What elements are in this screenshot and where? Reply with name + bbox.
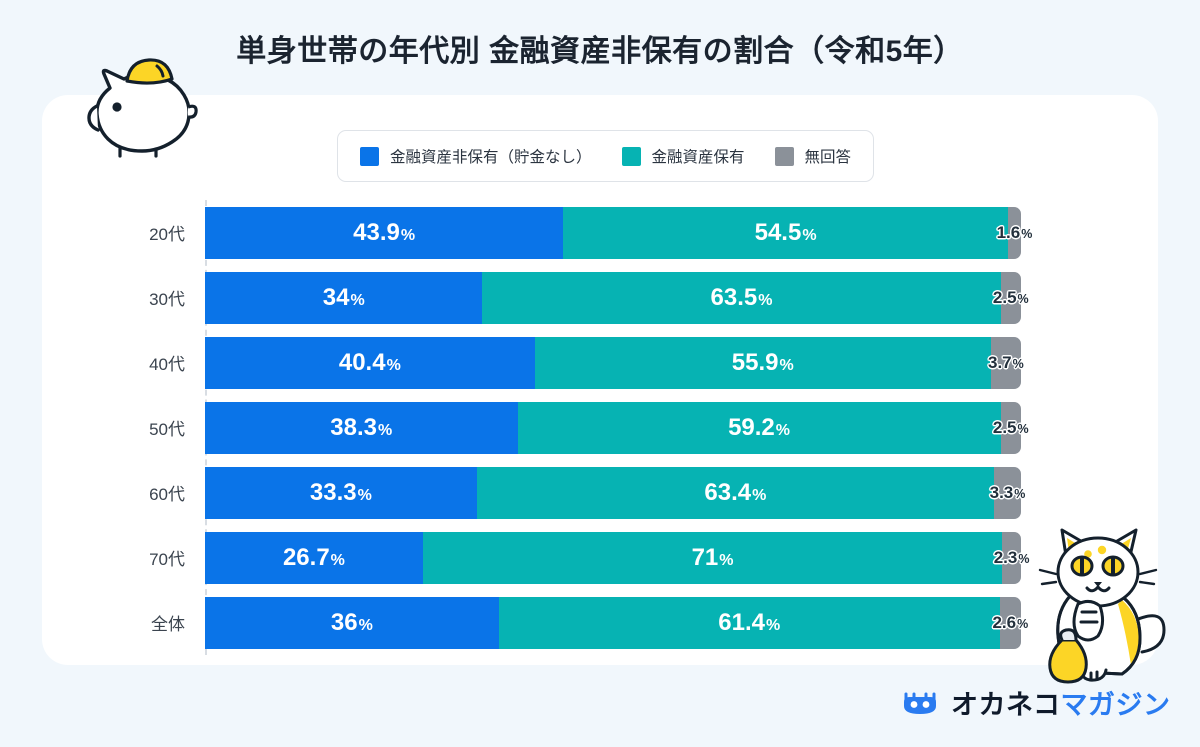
row-label-0: 20代 bbox=[42, 220, 205, 245]
row-label-1: 30代 bbox=[42, 285, 205, 310]
legend-item-2[interactable]: 無回答 bbox=[775, 145, 852, 167]
bar-value-blue-6: 36% bbox=[331, 611, 373, 635]
bar-value-gray-2: 3.7% bbox=[988, 354, 1024, 371]
bar-value-blue-5: 26.7% bbox=[283, 546, 345, 570]
bar-segment-blue-5: 26.7% bbox=[205, 532, 423, 584]
bar-track: 26.7%71%2.3% bbox=[205, 532, 1021, 584]
bar-segment-gray-1: 2.5% bbox=[1001, 272, 1021, 324]
bar-value-teal-0: 54.5% bbox=[755, 221, 817, 245]
bar-segment-blue-1: 34% bbox=[205, 272, 482, 324]
bar-value-blue-4: 33.3% bbox=[310, 481, 372, 505]
bar-row: 30代34%63.5%2.5% bbox=[42, 265, 1158, 330]
bar-track: 33.3%63.4%3.3% bbox=[205, 467, 1021, 519]
legend-label-2: 無回答 bbox=[805, 145, 852, 167]
bar-value-teal-5: 71% bbox=[692, 546, 734, 570]
bar-segment-teal-2: 55.9% bbox=[535, 337, 991, 389]
bar-value-gray-3: 2.5% bbox=[993, 419, 1029, 436]
bar-value-gray-0: 1.6% bbox=[997, 224, 1033, 241]
legend-item-0[interactable]: 金融資産非保有（貯金なし） bbox=[360, 145, 592, 167]
row-label-6: 全体 bbox=[42, 610, 205, 635]
bar-track: 34%63.5%2.5% bbox=[205, 272, 1021, 324]
bar-segment-gray-4: 3.3% bbox=[994, 467, 1021, 519]
bar-segment-blue-0: 43.9% bbox=[205, 207, 563, 259]
logo-text-sub: マガジン bbox=[1060, 690, 1170, 720]
legend-swatch-teal-icon bbox=[622, 147, 641, 166]
piggy-bank-icon bbox=[80, 52, 205, 162]
bar-row: 70代26.7%71%2.3% bbox=[42, 525, 1158, 590]
bar-row: 60代33.3%63.4%3.3% bbox=[42, 460, 1158, 525]
bar-segment-teal-0: 54.5% bbox=[563, 207, 1008, 259]
bar-row: 40代40.4%55.9%3.7% bbox=[42, 330, 1158, 395]
bar-segment-blue-2: 40.4% bbox=[205, 337, 535, 389]
bar-value-teal-1: 63.5% bbox=[711, 286, 773, 310]
bar-value-blue-0: 43.9% bbox=[353, 221, 415, 245]
bar-value-blue-1: 34% bbox=[323, 286, 365, 310]
logo-text-main: オカネコ bbox=[951, 690, 1060, 720]
legend-label-1: 金融資産保有 bbox=[652, 145, 745, 167]
bar-segment-gray-2: 3.7% bbox=[991, 337, 1021, 389]
bar-segment-teal-1: 63.5% bbox=[482, 272, 1000, 324]
bar-row: 20代43.9%54.5%1.6% bbox=[42, 200, 1158, 265]
row-label-5: 70代 bbox=[42, 545, 205, 570]
chart-legend: 金融資産非保有（貯金なし） 金融資産保有 無回答 bbox=[337, 130, 874, 182]
bar-segment-teal-4: 63.4% bbox=[477, 467, 994, 519]
bar-row: 全体36%61.4%2.6% bbox=[42, 590, 1158, 655]
bar-track: 43.9%54.5%1.6% bbox=[205, 207, 1021, 259]
bar-value-gray-1: 2.5% bbox=[993, 289, 1029, 306]
bar-segment-teal-3: 59.2% bbox=[518, 402, 1001, 454]
bar-value-blue-3: 38.3% bbox=[330, 416, 392, 440]
bar-value-blue-2: 40.4% bbox=[339, 351, 401, 375]
bar-track: 36%61.4%2.6% bbox=[205, 597, 1021, 649]
bar-value-teal-6: 61.4% bbox=[718, 611, 780, 635]
bar-row: 50代38.3%59.2%2.5% bbox=[42, 395, 1158, 460]
bar-value-gray-4: 3.3% bbox=[990, 484, 1026, 501]
okaneko-cat-logo-icon bbox=[900, 690, 940, 721]
legend-swatch-gray-icon bbox=[775, 147, 794, 166]
row-label-3: 50代 bbox=[42, 415, 205, 440]
bar-track: 40.4%55.9%3.7% bbox=[205, 337, 1021, 389]
bar-track: 38.3%59.2%2.5% bbox=[205, 402, 1021, 454]
bar-rows: 20代43.9%54.5%1.6%30代34%63.5%2.5%40代40.4%… bbox=[42, 200, 1158, 655]
bar-segment-teal-5: 71% bbox=[423, 532, 1002, 584]
bar-value-teal-3: 59.2% bbox=[728, 416, 790, 440]
row-label-4: 60代 bbox=[42, 480, 205, 505]
bar-segment-teal-6: 61.4% bbox=[499, 597, 1000, 649]
bar-value-teal-4: 63.4% bbox=[704, 481, 766, 505]
bar-value-teal-2: 55.9% bbox=[732, 351, 794, 375]
bar-segment-gray-0: 1.6% bbox=[1008, 207, 1021, 259]
legend-item-1[interactable]: 金融資産保有 bbox=[622, 145, 745, 167]
bar-segment-blue-3: 38.3% bbox=[205, 402, 518, 454]
site-logo[interactable]: オカネコマガジン bbox=[900, 688, 1170, 722]
bar-segment-blue-6: 36% bbox=[205, 597, 499, 649]
bar-segment-blue-4: 33.3% bbox=[205, 467, 477, 519]
bar-segment-gray-3: 2.5% bbox=[1001, 402, 1021, 454]
legend-swatch-blue-icon bbox=[360, 147, 379, 166]
cat-mascot-icon bbox=[1018, 512, 1183, 687]
row-label-2: 40代 bbox=[42, 350, 205, 375]
legend-label-0: 金融資産非保有（貯金なし） bbox=[390, 145, 592, 167]
